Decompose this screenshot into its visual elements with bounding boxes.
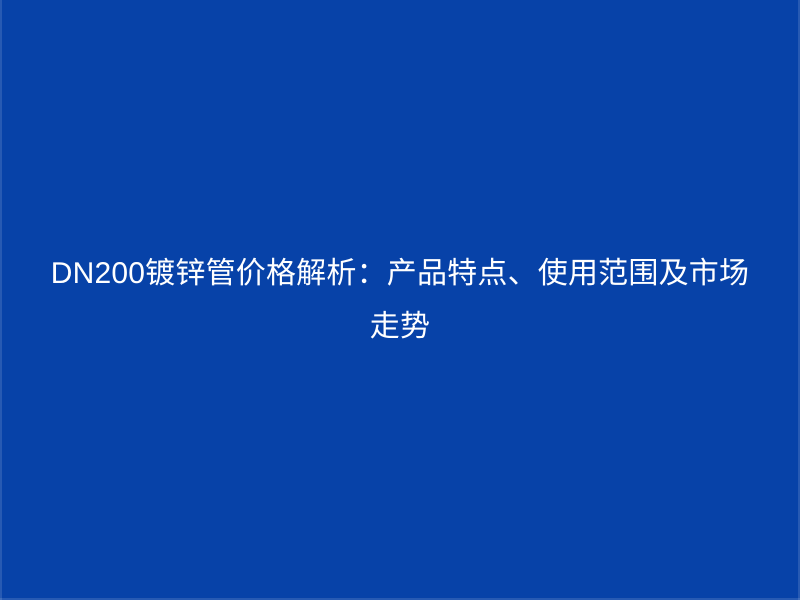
title-block: DN200镀锌管价格解析：产品特点、使用范围及市场走势: [50, 247, 750, 353]
left-edge-artifact: [0, 0, 2, 600]
title-banner: DN200镀锌管价格解析：产品特点、使用范围及市场走势: [0, 0, 800, 600]
page-title: DN200镀锌管价格解析：产品特点、使用范围及市场走势: [50, 247, 750, 353]
